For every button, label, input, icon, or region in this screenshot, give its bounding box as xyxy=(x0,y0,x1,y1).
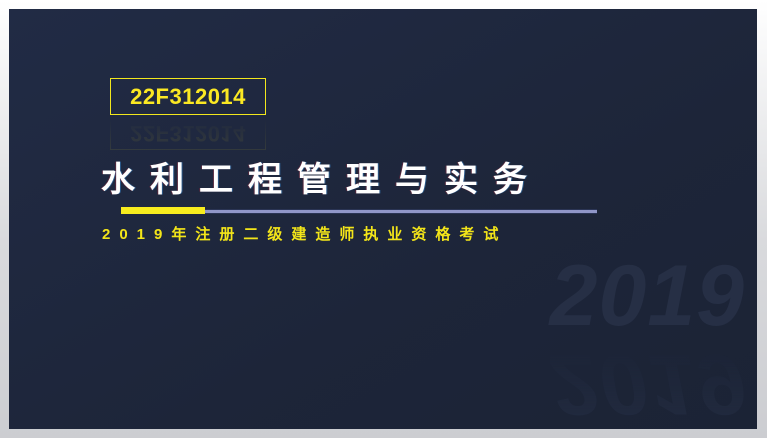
course-code-text-mirror: 22F312014 xyxy=(130,122,246,144)
page-title: 水利工程管理与实务 xyxy=(101,161,542,200)
course-code-group: 22F312014 22F312014 xyxy=(110,78,266,115)
slide-frame: 2019 2019 22F312014 22F312014 水利工程管理与实务 xyxy=(0,0,767,438)
year-watermark: 2019 xyxy=(550,253,745,339)
title-divider xyxy=(121,207,597,215)
divider-accent-segment xyxy=(121,207,205,214)
slide-canvas: 2019 2019 22F312014 22F312014 水利工程管理与实务 xyxy=(9,9,757,429)
divider-line-segment xyxy=(205,209,597,214)
course-code-badge-mirror: 22F312014 xyxy=(110,116,266,150)
watermark-group: 2019 2019 xyxy=(465,253,745,423)
year-watermark-reflection: 2019 xyxy=(550,341,745,427)
course-code-badge: 22F312014 xyxy=(110,78,266,115)
page-subtitle: 2019年注册二级建造师执业资格考试 xyxy=(102,226,507,244)
course-code-reflection: 22F312014 xyxy=(110,116,266,150)
course-code-text: 22F312014 xyxy=(130,86,246,108)
